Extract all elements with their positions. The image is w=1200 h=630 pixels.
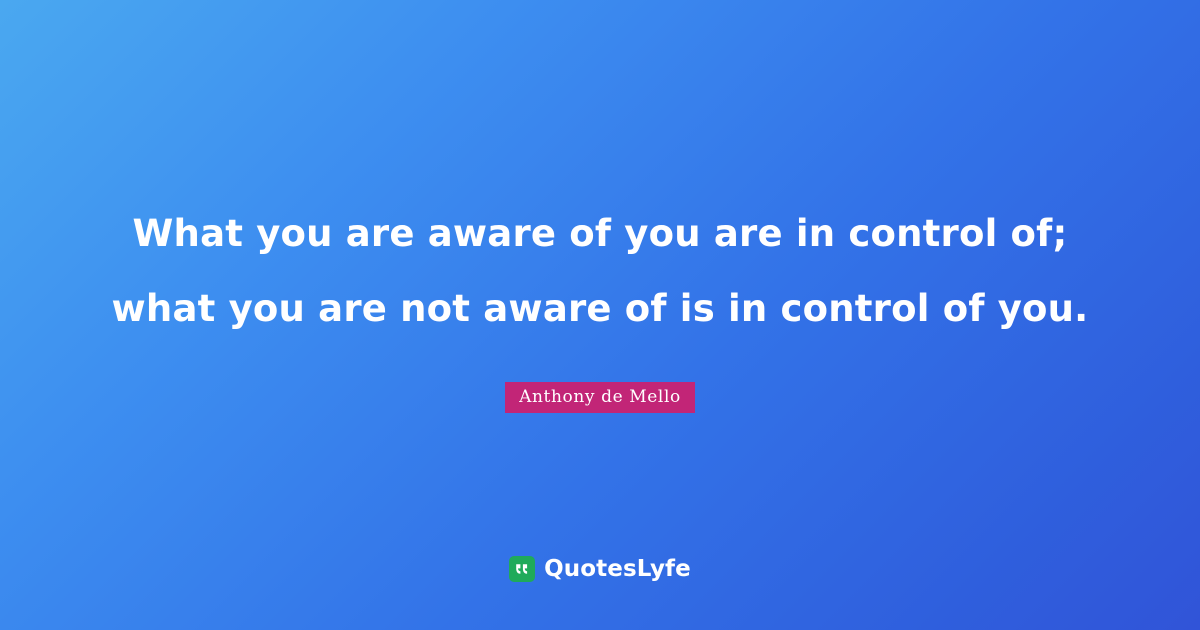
quote-text: What you are aware of you are in control… (100, 196, 1100, 346)
quote-mark-icon (509, 556, 535, 582)
author-container: Anthony de Mello (0, 382, 1200, 413)
brand-logo: QuotesLyfe (0, 556, 1200, 582)
quote-card: What you are aware of you are in control… (0, 0, 1200, 630)
author-badge: Anthony de Mello (505, 382, 695, 413)
brand-name: QuotesLyfe (544, 556, 691, 582)
